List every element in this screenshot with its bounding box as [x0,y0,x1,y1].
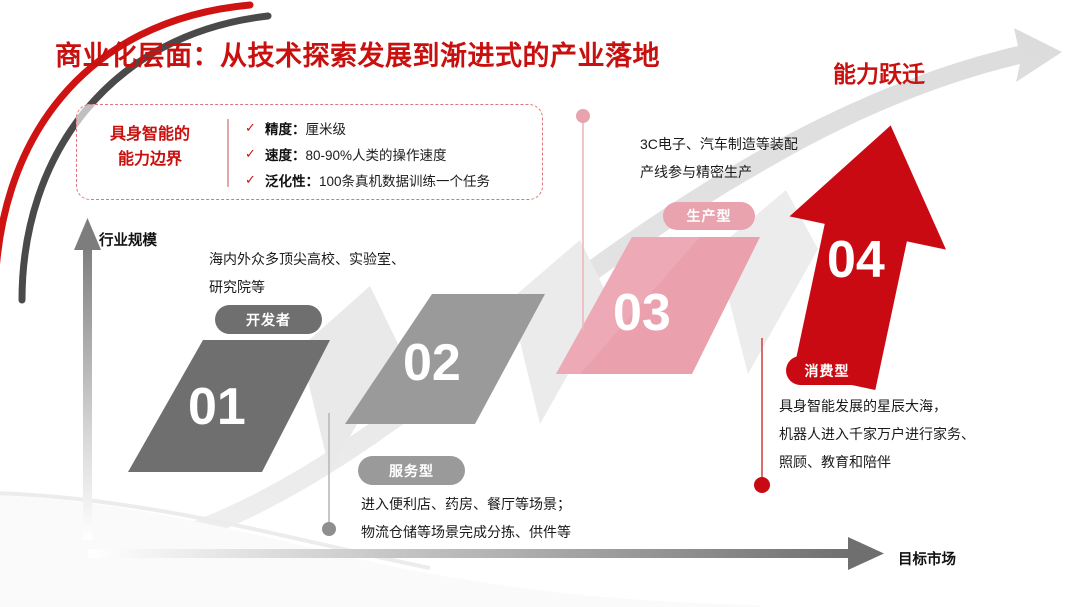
desc-line: 产线参与精密生产 [640,158,798,186]
desc-line: 机器人进入千家万户进行家务、 [779,420,975,448]
callout-item-key: 泛化性： [265,170,319,190]
y-axis-label: 行业规模 [99,229,157,250]
stage-number-03: 03 [613,287,671,339]
x-axis-label: 目标市场 [898,548,956,569]
stage-number-02: 02 [403,337,461,389]
slide-canvas: 商业化层面：从技术探索发展到渐进式的产业落地 能力跃迁 具身智能的 能力边界 ✓… [0,0,1080,607]
connector-04 [754,338,770,493]
desc-line: 具身智能发展的星辰大海， [779,392,975,420]
page-title: 商业化层面：从技术探索发展到渐进式的产业落地 [55,34,660,73]
callout-heading: 具身智能的 能力边界 [91,122,209,172]
callout-list: ✓ 精度： 厘米级 ✓ 速度： 80-90%人类的操作速度 ✓ 泛化性： 100… [245,115,535,193]
callout-heading-line2: 能力边界 [91,147,209,172]
stage-number-04: 04 [827,234,885,286]
leap-headline: 能力跃迁 [833,55,925,89]
callout-item-key: 精度： [265,118,306,138]
y-axis-arrow [74,218,101,540]
desc-line: 研究院等 [209,273,405,301]
list-item: ✓ 精度： 厘米级 [245,115,535,141]
list-item: ✓ 泛化性： 100条真机数据训练一个任务 [245,167,535,193]
stage-desc-02: 进入便利店、药房、餐厅等场景； 物流仓储等场景完成分拣、供件等 [361,490,571,546]
check-icon: ✓ [245,120,265,136]
stage-number-01: 01 [188,381,246,433]
stage-desc-04: 具身智能发展的星辰大海， 机器人进入千家万户进行家务、 照顾、教育和陪伴 [779,392,975,476]
capability-callout: 具身智能的 能力边界 ✓ 精度： 厘米级 ✓ 速度： 80-90%人类的操作速度… [76,104,543,200]
callout-heading-line1: 具身智能的 [91,122,209,147]
desc-line: 照顾、教育和陪伴 [779,448,975,476]
stage-desc-01: 海内外众多顶尖高校、实验室、 研究院等 [209,245,405,301]
check-icon: ✓ [245,146,265,162]
stage-pill-developer[interactable]: 开发者 [215,305,322,334]
list-item: ✓ 速度： 80-90%人类的操作速度 [245,141,535,167]
callout-divider [227,119,229,187]
callout-item-value: 80-90%人类的操作速度 [306,144,447,164]
stage-pill-service[interactable]: 服务型 [358,456,465,485]
desc-line: 进入便利店、药房、餐厅等场景； [361,490,571,518]
callout-item-value: 厘米级 [306,118,347,138]
stage-pill-consumer[interactable]: 消费型 [786,356,868,385]
desc-line: 3C电子、汽车制造等装配 [640,130,798,158]
desc-line: 物流仓储等场景完成分拣、供件等 [361,518,571,546]
check-icon: ✓ [245,172,265,188]
callout-item-value: 100条真机数据训练一个任务 [319,170,490,190]
stage-desc-03: 3C电子、汽车制造等装配 产线参与精密生产 [640,130,798,186]
callout-item-key: 速度： [265,144,306,164]
stage-pill-production[interactable]: 生产型 [663,202,755,230]
desc-line: 海内外众多顶尖高校、实验室、 [209,245,405,273]
